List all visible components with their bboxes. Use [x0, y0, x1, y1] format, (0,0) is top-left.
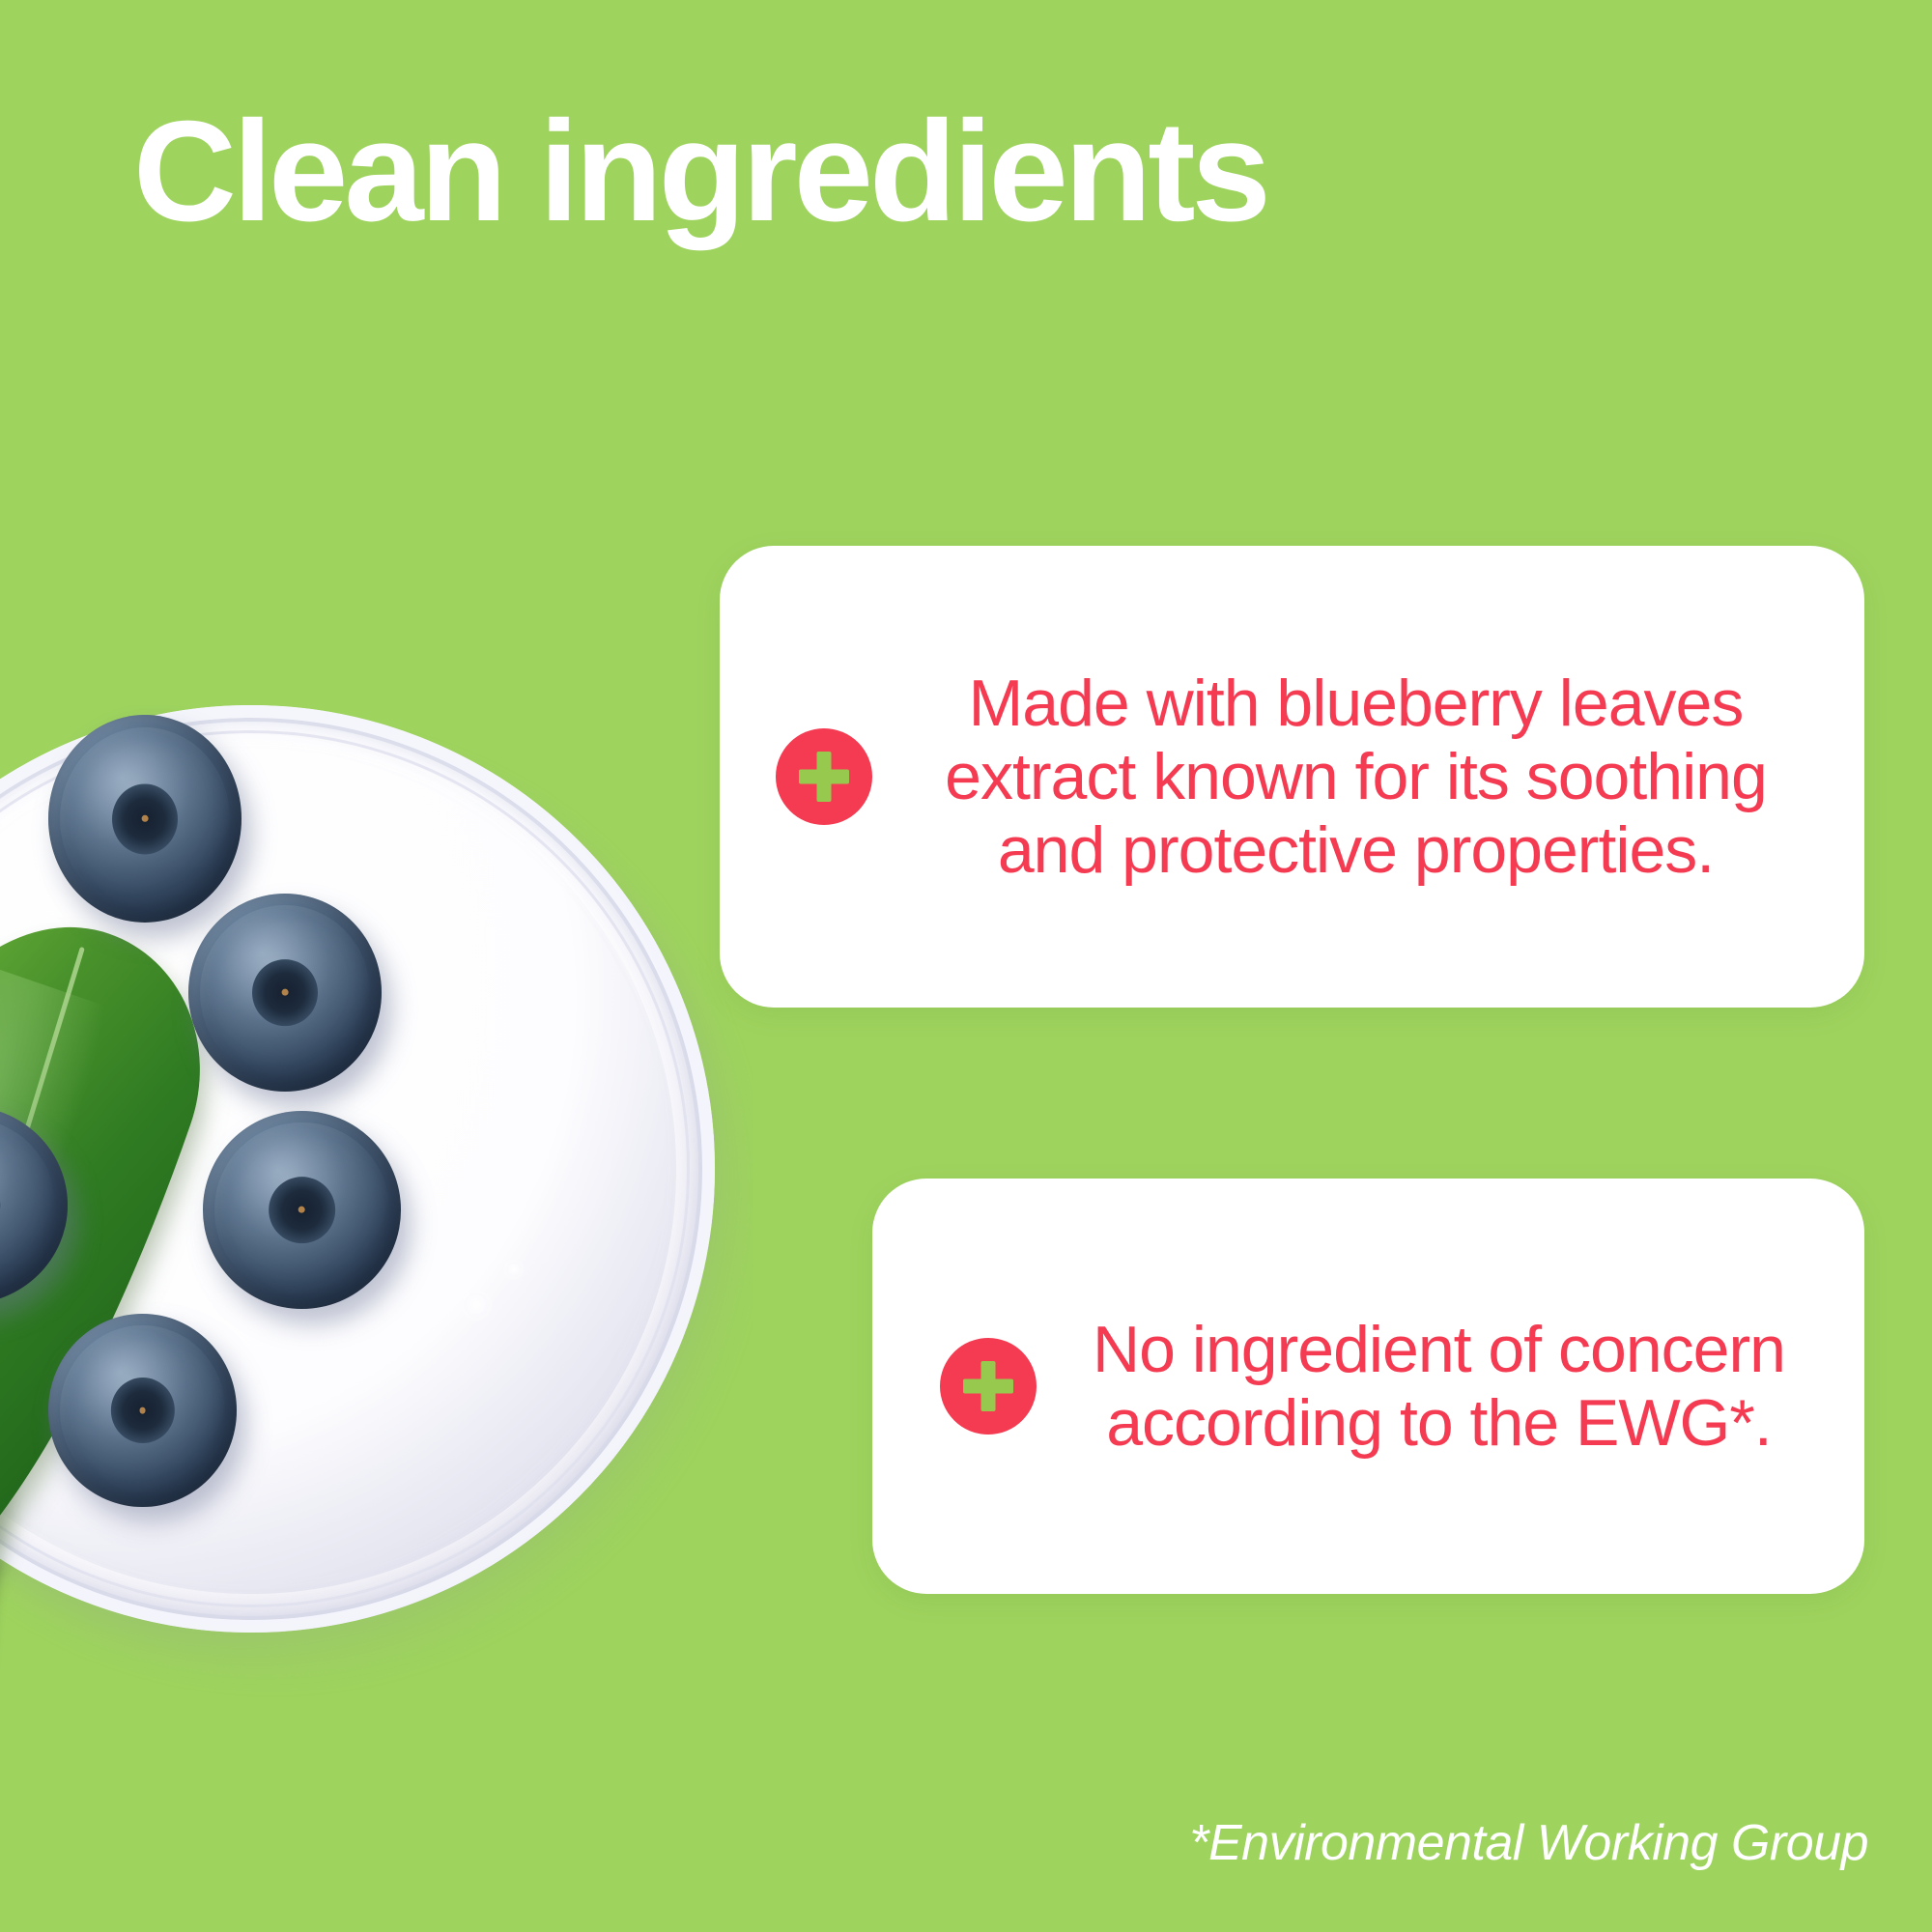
blueberry — [203, 1111, 401, 1309]
blueberry — [188, 894, 382, 1092]
plus-icon-vertical-bar — [817, 752, 832, 802]
plus-icon — [776, 728, 872, 825]
blueberry — [48, 1314, 237, 1507]
petri-dish — [0, 705, 753, 1671]
plus-icon-vertical-bar — [981, 1361, 996, 1411]
petri-dish-photo — [0, 705, 753, 1768]
promo-graphic: Clean ingredients — [0, 0, 1932, 1932]
dish-glint-icon — [464, 1293, 489, 1318]
info-card-text: No ingredient of concern according to th… — [1037, 1313, 1864, 1460]
dish-glint-icon — [506, 1262, 522, 1277]
plus-icon — [940, 1338, 1037, 1435]
info-card-text: Made with blueberry leaves extract known… — [872, 667, 1864, 887]
footnote: *Environmental Working Group — [1189, 1814, 1868, 1872]
info-card-no-ingredient-of-concern[interactable]: No ingredient of concern according to th… — [872, 1179, 1864, 1594]
page-title: Clean ingredients — [133, 100, 1267, 243]
info-card-blueberry-extract[interactable]: Made with blueberry leaves extract known… — [720, 546, 1864, 1008]
blueberry — [48, 715, 241, 923]
